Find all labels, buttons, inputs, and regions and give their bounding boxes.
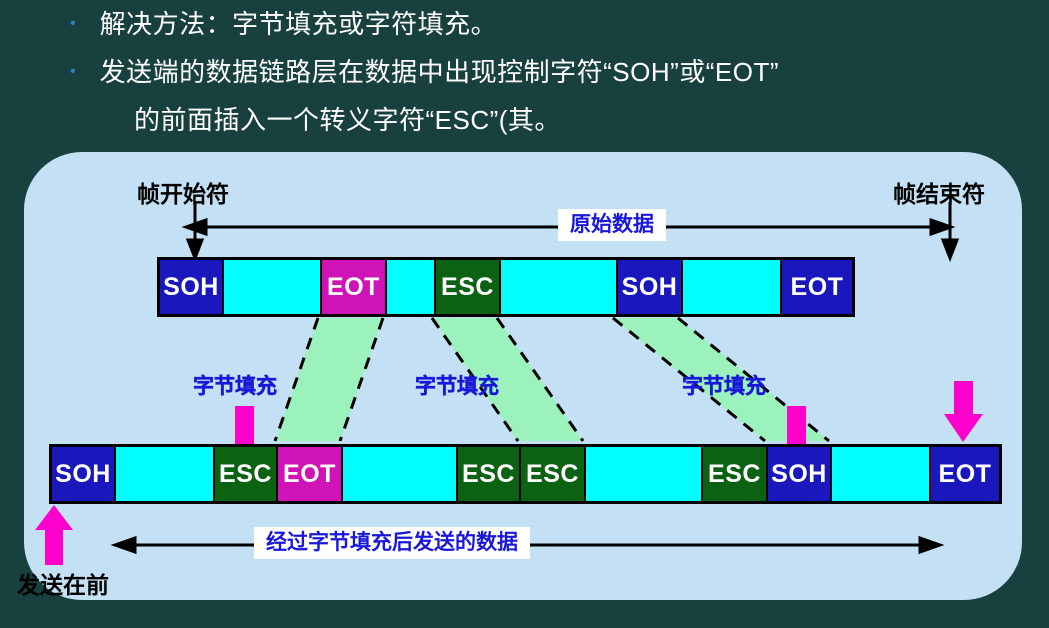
label-frame-end: 帧结束符: [893, 175, 985, 209]
bullet-item-2-cont: 的前面插入一个转义字符“ESC”(其。: [134, 100, 561, 140]
bullet-marker-icon: •: [70, 64, 76, 80]
bullet-text-2-continuation: 的前面插入一个转义字符“ESC”(其。: [134, 100, 561, 140]
label-stuffed-data: 经过字节填充后发送的数据: [254, 527, 530, 559]
bullet-item-1: • 解决方法：字节填充或字符填充。: [70, 4, 497, 44]
original-cell-soh-6: SOH: [618, 260, 683, 314]
stuffed-cell-data-10: [832, 447, 931, 501]
original-cell-data-5: [501, 260, 618, 314]
stuffed-cell-data-1: [116, 447, 215, 501]
bullet-marker-icon: •: [70, 16, 76, 32]
stuffed-cell-esc-8: ESC: [703, 447, 768, 501]
original-cell-data-3: [387, 260, 436, 314]
label-send-first: 发送在前: [17, 566, 109, 600]
label-byte-stuffing-3: 字节填充: [682, 370, 766, 400]
bullet-text-block: • 解决方法：字节填充或字符填充。 • 发送端的数据链路层在数据中出现控制字符“…: [0, 0, 1049, 152]
label-byte-stuffing-1: 字节填充: [193, 370, 277, 400]
stuffed-cell-esc-2: ESC: [215, 447, 278, 501]
stuffed-cell-esc-5: ESC: [458, 447, 521, 501]
stuffed-cell-esc-6: ESC: [521, 447, 586, 501]
stuffed-data-frame: SOHESCEOTESCESCESCSOHEOT: [49, 444, 1002, 504]
stuffed-cell-data-4: [343, 447, 458, 501]
original-cell-data-7: [683, 260, 782, 314]
original-cell-eot-8: EOT: [782, 260, 852, 314]
bullet-text-1: 解决方法：字节填充或字符填充。: [100, 4, 498, 44]
stuffed-cell-eot-11: EOT: [931, 447, 999, 501]
stuffed-cell-eot-3: EOT: [278, 447, 343, 501]
stuffed-cell-soh-9: SOH: [768, 447, 832, 501]
original-cell-soh-0: SOH: [160, 260, 224, 314]
slide-root: • 解决方法：字节填充或字符填充。 • 发送端的数据链路层在数据中出现控制字符“…: [0, 0, 1049, 628]
original-cell-data-1: [224, 260, 322, 314]
stuffed-cell-data-7: [586, 447, 703, 501]
original-cell-esc-4: ESC: [436, 260, 501, 314]
label-byte-stuffing-2: 字节填充: [415, 370, 499, 400]
original-cell-eot-2: EOT: [322, 260, 387, 314]
bullet-text-2: 发送端的数据链路层在数据中出现控制字符“SOH”或“EOT”: [100, 52, 779, 92]
bullet-item-2: • 发送端的数据链路层在数据中出现控制字符“SOH”或“EOT”: [70, 52, 779, 92]
original-data-frame: SOHEOTESCSOHEOT: [157, 257, 855, 317]
label-original-data: 原始数据: [558, 209, 666, 241]
stuffed-cell-soh-0: SOH: [52, 447, 116, 501]
label-frame-start: 帧开始符: [137, 175, 229, 209]
